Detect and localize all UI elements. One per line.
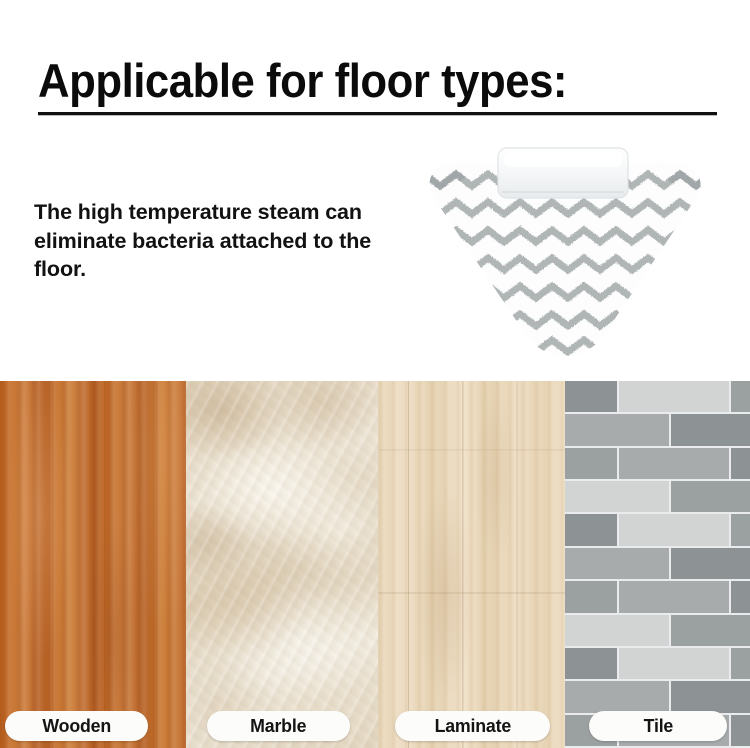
floor-panel-wooden[interactable]: Wooden	[0, 381, 186, 748]
floor-label-marble: Marble	[207, 711, 350, 741]
tile-cell	[671, 681, 750, 712]
tile-row	[565, 481, 750, 514]
tile-cell	[619, 648, 729, 679]
tile-grid	[565, 381, 750, 748]
tile-cell	[565, 514, 617, 545]
description-text: The high temperature steam can eliminate…	[34, 198, 404, 284]
tile-cell	[671, 548, 750, 579]
tile-cell	[565, 581, 617, 612]
mop-pad-tab	[498, 148, 628, 198]
tile-cell	[565, 381, 617, 412]
tile-cell	[731, 648, 750, 679]
tile-cell	[731, 715, 750, 746]
floor-label-wooden: Wooden	[5, 711, 148, 741]
header-section: Applicable for floor types: The high tem…	[0, 0, 750, 381]
floor-label-wooden-text: Wooden	[42, 715, 111, 737]
tile-cell	[565, 414, 669, 445]
tile-row	[565, 648, 750, 681]
tile-cell	[565, 548, 669, 579]
floor-panel-tile[interactable]: Tile	[565, 381, 750, 748]
floor-label-tile: Tile	[589, 711, 727, 741]
tile-cell	[671, 615, 750, 646]
tile-row	[565, 414, 750, 447]
tile-floor-texture	[565, 381, 750, 748]
tile-cell	[671, 481, 750, 512]
tile-cell	[565, 648, 617, 679]
floor-types-strip: Wooden Marble Laminate Tile	[0, 381, 750, 748]
tile-cell	[731, 448, 750, 479]
tile-cell	[565, 481, 669, 512]
tile-cell	[565, 615, 669, 646]
tile-cell	[731, 581, 750, 612]
laminate-floor-texture	[378, 381, 565, 748]
tile-cell	[619, 581, 729, 612]
tile-row	[565, 381, 750, 414]
floor-label-tile-text: Tile	[643, 715, 673, 737]
wooden-floor-texture	[0, 381, 186, 748]
tile-row	[565, 548, 750, 581]
tile-row	[565, 681, 750, 714]
tile-cell	[565, 448, 617, 479]
page-title: Applicable for floor types:	[38, 57, 567, 105]
tile-row	[565, 448, 750, 481]
tile-cell	[565, 681, 669, 712]
infographic-page: Applicable for floor types: The high tem…	[0, 0, 750, 748]
tile-cell	[671, 414, 750, 445]
floor-panel-marble[interactable]: Marble	[186, 381, 378, 748]
tile-cell	[619, 448, 729, 479]
tile-row	[565, 514, 750, 547]
tile-cell	[731, 514, 750, 545]
floor-label-laminate: Laminate	[395, 711, 550, 741]
tile-cell	[619, 381, 729, 412]
steam-mop-pad-image	[418, 140, 712, 362]
tile-row	[565, 581, 750, 614]
tile-cell	[731, 381, 750, 412]
title-underline-rule	[38, 112, 717, 115]
tile-row	[565, 615, 750, 648]
tile-cell	[619, 514, 729, 545]
marble-floor-texture	[186, 381, 378, 748]
floor-label-laminate-text: Laminate	[434, 715, 510, 737]
floor-panel-laminate[interactable]: Laminate	[378, 381, 565, 748]
floor-label-marble-text: Marble	[250, 715, 306, 737]
